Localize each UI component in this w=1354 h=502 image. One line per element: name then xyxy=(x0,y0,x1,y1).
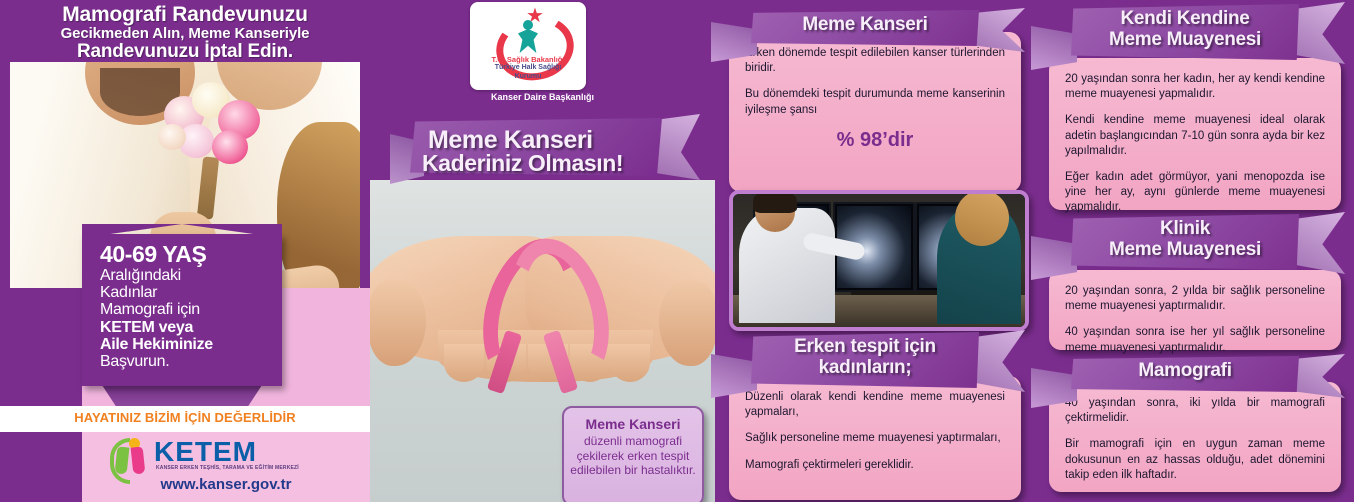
age-card-line-3: Kadınlar xyxy=(100,284,276,301)
card-1-banner: Meme Kanseri xyxy=(751,10,979,46)
card-2-banner-fold-right xyxy=(1291,2,1345,64)
photo-right-thumb xyxy=(659,280,715,366)
card-5-banner-fold-right xyxy=(1291,354,1345,398)
fact-card-body: düzenli mamografi çekilerek erken tespit… xyxy=(570,434,696,478)
card-3-banner-fold-right xyxy=(1291,212,1345,274)
card-5-panel: 40 yaşından sonra, iki yılda bir mamogra… xyxy=(1049,382,1341,492)
card-4-paragraph-3: Mamografi çektirmeleri gereklidir. xyxy=(745,458,1005,473)
card-3-title: Klinik Meme Muayenesi xyxy=(1071,218,1299,261)
card-4-panel: Düzenli olarak kendi kendine meme muayen… xyxy=(729,376,1021,500)
left-purple-margin xyxy=(0,288,82,502)
ministry-department-caption: Kanser Daire Başkanlığı xyxy=(370,92,715,102)
ketem-figure-icon xyxy=(112,438,152,474)
center-panel: ★ T.C. Sağlık Bakanlığı Türkiye Halk Sağ… xyxy=(370,0,715,502)
age-range-label: 40-69 YAŞ xyxy=(100,242,276,267)
age-card-notch xyxy=(82,224,282,238)
doctor-hair xyxy=(753,190,797,213)
age-card-line-6: Aile Hekiminize xyxy=(100,336,276,353)
center-title-banner: Meme Kanseri Kaderiniz Olmasın! xyxy=(392,112,692,180)
card-1-panel: Erken dönemde tespit edilebilen kanser t… xyxy=(729,32,1021,192)
ketem-subtitle: KANSER ERKEN TEŞHİS, TARAMA VE EĞİTİM ME… xyxy=(156,465,299,471)
center-title-line-2: Kaderiniz Olmasın! xyxy=(422,150,623,177)
card-2-title-line-2: Meme Muayenesi xyxy=(1109,29,1261,50)
card-1-paragraph-2: Bu dönemdeki tespit durumunda meme kanse… xyxy=(745,87,1005,117)
card-5-paragraph-1: 40 yaşından sonra, iki yılda bir mamogra… xyxy=(1065,396,1325,426)
poster-root: Mamografi Randevunuzu Gecikmeden Alın, M… xyxy=(0,0,1354,502)
left-panel: Mamografi Randevunuzu Gecikmeden Alın, M… xyxy=(0,0,370,502)
card-4-banner-fold-right xyxy=(971,330,1025,392)
ministry-name-line-3: Kurumu xyxy=(470,73,586,80)
card-5-banner: Mamografi xyxy=(1071,356,1299,392)
ketem-website-url[interactable]: www.kanser.gov.tr xyxy=(82,476,370,493)
card-5-title: Mamografi xyxy=(1071,360,1299,381)
card-4-title: Erken tespit için kadınların; xyxy=(751,336,979,379)
ketem-wordmark: KETEM xyxy=(154,436,257,468)
card-3-paragraph-1: 20 yaşından sonra, 2 yılda bir sağlık pe… xyxy=(1065,284,1325,314)
card-3-title-line-2: Meme Muayenesi xyxy=(1109,239,1261,260)
headline-line-2: Gecikmeden Alın, Meme Kanseriyle xyxy=(0,25,370,42)
card-4-paragraph-2: Sağlık personeline meme muayenesi yaptır… xyxy=(745,431,1005,446)
card-2-title: Kendi Kendine Meme Muayenesi xyxy=(1071,8,1299,51)
age-card-line-2: Aralığındaki xyxy=(100,267,276,284)
card-3-paragraph-2: 40 yaşından sonra ise her yıl sağlık per… xyxy=(1065,325,1325,355)
card-3-banner: Klinik Meme Muayenesi xyxy=(1071,214,1299,270)
age-card-text: 40-69 YAŞ Aralığındaki Kadınlar Mamograf… xyxy=(100,242,276,370)
card-3-panel: 20 yaşından sonra, 2 yılda bir sağlık pe… xyxy=(1049,270,1341,350)
headline-line-3: Randevunuzu İptal Edin. xyxy=(0,41,370,63)
card-2-title-line-1: Kendi Kendine xyxy=(1120,8,1249,29)
pink-ribbon-icon xyxy=(480,235,600,385)
ministry-name-line-1: T.C. Sağlık Bakanlığı xyxy=(470,55,586,64)
left-headline: Mamografi Randevunuzu Gecikmeden Alın, M… xyxy=(0,0,370,62)
card-2-paragraph-3: Eğer kadın adet görmüyor, yani menopozda… xyxy=(1065,170,1325,216)
ministry-of-health-logo: ★ T.C. Sağlık Bakanlığı Türkiye Halk Sağ… xyxy=(470,2,586,90)
patient-head xyxy=(955,190,1009,246)
card-4-banner: Erken tespit için kadınların; xyxy=(751,332,979,388)
age-card-line-4: Mamografi için xyxy=(100,301,276,318)
card-1-title: Meme Kanseri xyxy=(751,14,979,35)
logo-figure-head xyxy=(523,20,533,30)
card-1-paragraph-1: Erken dönemde tespit edilebilen kanser t… xyxy=(745,46,1005,76)
card-4-paragraph-1: Düzenli olarak kendi kendine meme muayen… xyxy=(745,390,1005,420)
breast-cancer-fact-card: Meme Kanseri düzenli mamografi çekilerek… xyxy=(562,406,704,502)
age-card-line-5: KETEM veya xyxy=(100,319,276,336)
card-5-paragraph-2: Bir mamografi için en uygun zaman meme d… xyxy=(1065,437,1325,483)
survival-rate-highlight: % 98’dir xyxy=(745,129,1005,152)
ministry-name-line-2: Türkiye Halk Sağlığı xyxy=(470,64,586,71)
headline-line-1: Mamografi Randevunuzu xyxy=(0,3,370,27)
ketem-logo: KETEM KANSER ERKEN TEŞHİS, TARAMA VE EĞİ… xyxy=(112,436,342,476)
photo-bouquet xyxy=(158,80,268,175)
card-2-banner: Kendi Kendine Meme Muayenesi xyxy=(1071,4,1299,60)
card-3-title-line-1: Klinik xyxy=(1160,218,1210,239)
ketem-footer: KETEM KANSER ERKEN TEŞHİS, TARAMA VE EĞİ… xyxy=(82,432,370,502)
card-4-title-line-2: kadınların; xyxy=(819,357,912,378)
card-2-panel: 20 yaşından sonra her kadın, her ay kend… xyxy=(1049,58,1341,210)
card-4-title-line-1: Erken tespit için xyxy=(794,336,936,357)
card-2-paragraph-2: Kendi kendine meme muayenesi ideal olara… xyxy=(1065,113,1325,159)
age-recommendation-card: 40-69 YAŞ Aralığındaki Kadınlar Mamograf… xyxy=(82,224,282,396)
fact-card-heading: Meme Kanseri xyxy=(564,416,702,432)
card-1-banner-fold-right xyxy=(971,8,1025,52)
mammogram-consultation-photo xyxy=(729,190,1029,331)
age-card-line-7: Başvurun. xyxy=(100,353,276,370)
slogan-text: HAYATINIZ BİZİM İÇİN DEĞERLİDİR xyxy=(0,410,370,425)
right-panel: Erken dönemde tespit edilebilen kanser t… xyxy=(715,0,1354,502)
card-2-paragraph-1: 20 yaşından sonra her kadın, her ay kend… xyxy=(1065,72,1325,102)
